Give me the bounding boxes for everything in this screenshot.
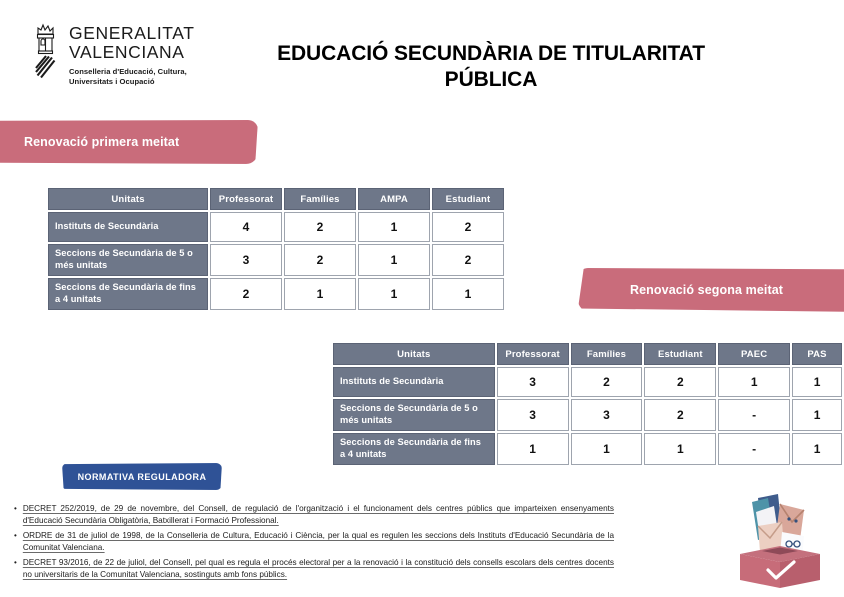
- page-title: EDUCACIÓ SECUNDÀRIA DE TITULARITAT PÚBLI…: [250, 41, 732, 92]
- column-header-paec: PAEC: [718, 343, 790, 365]
- normativa-label: NORMATIVA REGULADORA: [78, 472, 207, 482]
- column-header-unitats: Unitats: [333, 343, 495, 365]
- cell-value: 2: [284, 212, 356, 242]
- row-label: Seccions de Secundària de fins a 4 unita…: [48, 278, 208, 310]
- cell-value: 1: [358, 278, 430, 310]
- column-header-estudiant: Estudiant: [432, 188, 504, 210]
- list-item: • DECRET 93/2016, de 22 de juliol, del C…: [14, 557, 614, 581]
- table-renovacio-segona-meitat: Unitats Professorat Famílies Estudiant P…: [331, 341, 844, 467]
- row-label: Instituts de Secundària: [48, 212, 208, 242]
- cell-value: 1: [718, 367, 790, 397]
- row-label: Seccions de Secundària de 5 o més unitat…: [333, 399, 495, 431]
- row-label: Seccions de Secundària de fins a 4 unita…: [333, 433, 495, 465]
- cell-value: 4: [210, 212, 282, 242]
- cell-value: 3: [210, 244, 282, 276]
- column-header-estudiant: Estudiant: [644, 343, 716, 365]
- ballot-box-body: [740, 546, 820, 588]
- cell-value: 2: [210, 278, 282, 310]
- list-item: • DECRET 252/2019, de 29 de novembre, de…: [14, 503, 614, 527]
- normativa-link[interactable]: ORDRE de 31 de juliol de 1998, de la Con…: [23, 530, 614, 554]
- row-label: Seccions de Secundària de 5 o més unitat…: [48, 244, 208, 276]
- column-header-families: Famílies: [284, 188, 356, 210]
- cell-value: 1: [792, 433, 842, 465]
- bullet-icon: •: [14, 530, 17, 554]
- cell-value: 1: [358, 212, 430, 242]
- column-header-ampa: AMPA: [358, 188, 430, 210]
- logo-wordmark: GENERALITAT VALENCIANA Conselleria d'Edu…: [69, 20, 195, 87]
- poster-page: GENERALITAT VALENCIANA Conselleria d'Edu…: [0, 0, 844, 595]
- banner-renovacio-primera-meitat: Renovació primera meitat: [0, 120, 258, 164]
- cell-value: 2: [571, 367, 643, 397]
- list-item: • ORDRE de 31 de juliol de 1998, de la C…: [14, 530, 614, 554]
- table-header-row: Unitats Professorat Famílies Estudiant P…: [333, 343, 842, 365]
- normativa-reguladora-badge: NORMATIVA REGULADORA: [62, 463, 222, 490]
- generalitat-logo: GENERALITAT VALENCIANA Conselleria d'Edu…: [32, 20, 195, 87]
- column-header-unitats: Unitats: [48, 188, 208, 210]
- banner-first-label: Renovació primera meitat: [24, 135, 179, 149]
- normativa-list: • DECRET 252/2019, de 29 de novembre, de…: [14, 503, 614, 583]
- cell-value: 1: [358, 244, 430, 276]
- table-row: Seccions de Secundària de fins a 4 unita…: [48, 278, 504, 310]
- cell-value: 1: [792, 399, 842, 431]
- cell-value: 2: [644, 399, 716, 431]
- column-header-pas: PAS: [792, 343, 842, 365]
- cell-value: 3: [497, 367, 569, 397]
- bullet-icon: •: [14, 503, 17, 527]
- table-row: Seccions de Secundària de fins a 4 unita…: [333, 433, 842, 465]
- cell-value: 2: [644, 367, 716, 397]
- row-label: Instituts de Secundària: [333, 367, 495, 397]
- column-header-families: Famílies: [571, 343, 643, 365]
- cell-value: 2: [432, 244, 504, 276]
- ballot-box-illustration: [718, 492, 842, 592]
- banner-second-label: Renovació segona meitat: [630, 283, 783, 297]
- cell-value: 2: [432, 212, 504, 242]
- table-row: Instituts de Secundària 4 2 1 2: [48, 212, 504, 242]
- table-row: Instituts de Secundària 3 2 2 1 1: [333, 367, 842, 397]
- normativa-link[interactable]: DECRET 93/2016, de 22 de juliol, del Con…: [23, 557, 614, 581]
- cell-value: 1: [644, 433, 716, 465]
- cell-value: 1: [432, 278, 504, 310]
- table-row: Seccions de Secundària de 5 o més unitat…: [48, 244, 504, 276]
- banner-renovacio-segona-meitat: Renovació segona meitat: [578, 268, 844, 312]
- cell-value: 1: [792, 367, 842, 397]
- cell-value: 1: [497, 433, 569, 465]
- cell-value: 3: [571, 399, 643, 431]
- column-header-professorat: Professorat: [210, 188, 282, 210]
- cell-value: -: [718, 399, 790, 431]
- cell-value: -: [718, 433, 790, 465]
- cell-value: 2: [284, 244, 356, 276]
- normativa-link[interactable]: DECRET 252/2019, de 29 de novembre, del …: [23, 503, 614, 527]
- table-renovacio-primera-meitat: Unitats Professorat Famílies AMPA Estudi…: [46, 186, 506, 312]
- logo-subtitle: Conselleria d'Educació, Cultura, Univers…: [69, 67, 195, 87]
- bullet-icon: •: [14, 557, 17, 581]
- table-header-row: Unitats Professorat Famílies AMPA Estudi…: [48, 188, 504, 210]
- column-header-professorat: Professorat: [497, 343, 569, 365]
- generalitat-valenciana-crest-icon: [32, 20, 62, 80]
- cell-value: 1: [284, 278, 356, 310]
- cell-value: 1: [571, 433, 643, 465]
- table-row: Seccions de Secundària de 5 o més unitat…: [333, 399, 842, 431]
- logo-line-2: VALENCIANA: [69, 43, 195, 62]
- logo-line-1: GENERALITAT: [69, 24, 195, 43]
- cell-value: 3: [497, 399, 569, 431]
